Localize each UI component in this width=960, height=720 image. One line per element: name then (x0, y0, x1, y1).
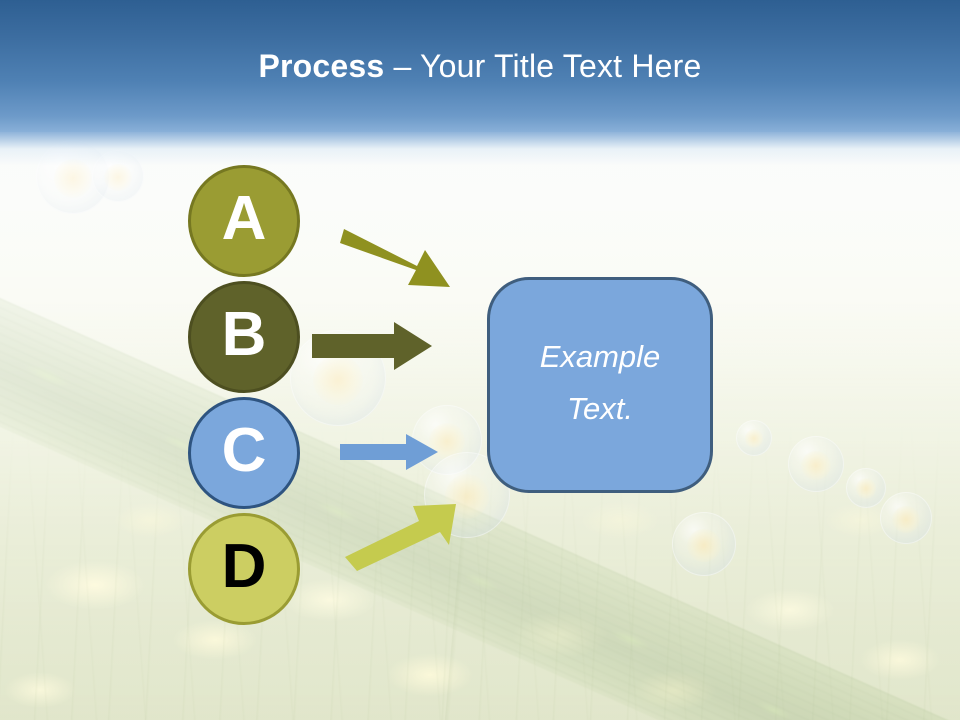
step-circle-d[interactable]: D (188, 513, 300, 625)
arrow-b-icon (312, 320, 434, 372)
page-title-strong: Process (258, 48, 384, 84)
page-title: Process – Your Title Text Here (0, 46, 960, 86)
page-title-separator: – (384, 48, 420, 84)
step-circle-a-label: A (222, 188, 267, 250)
step-circle-b[interactable]: B (188, 281, 300, 393)
step-circle-b-label: B (222, 304, 267, 366)
arrow-c-icon (340, 432, 440, 472)
step-circle-c-label: C (222, 420, 267, 482)
step-circle-d-label: D (222, 536, 267, 598)
example-text-box[interactable]: Example Text. (487, 277, 713, 493)
example-text-line-2: Text. (540, 383, 661, 435)
step-circle-a[interactable]: A (188, 165, 300, 277)
page-title-rest: Your Title Text Here (420, 48, 701, 84)
arrow-a-icon (340, 215, 470, 295)
arrow-d-icon (343, 495, 468, 575)
slide-canvas: Process – Your Title Text Here A B C D E… (0, 0, 960, 720)
step-circle-c[interactable]: C (188, 397, 300, 509)
example-text-line-1: Example (540, 331, 661, 383)
